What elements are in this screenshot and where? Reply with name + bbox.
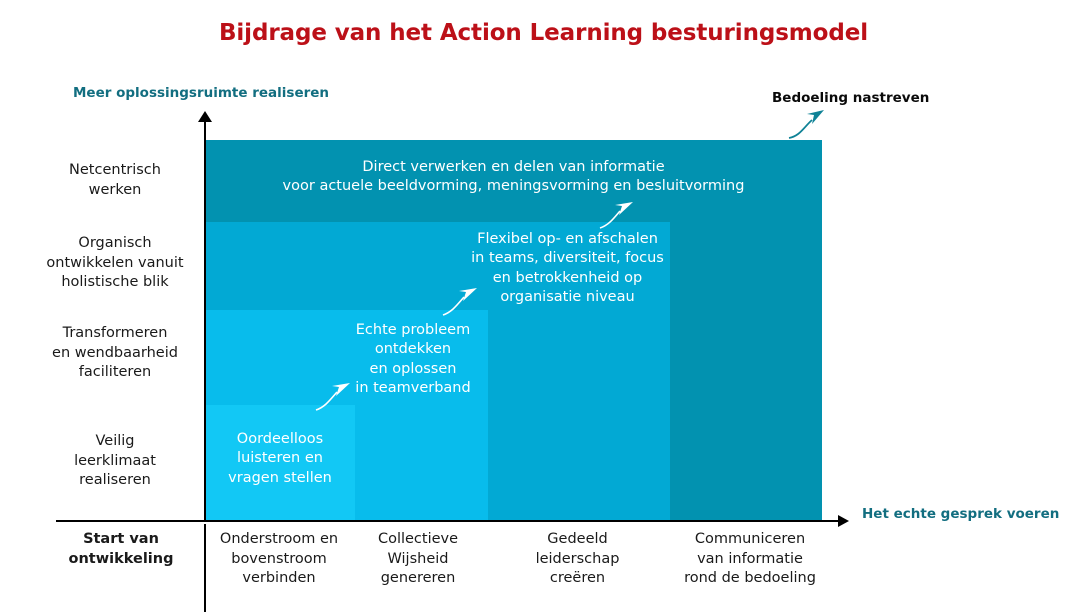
bar-block-2-label: Echte probleem ontdekken en oplossen in … bbox=[338, 321, 488, 399]
x-axis-line bbox=[56, 520, 843, 522]
bar-block-4-label: Direct verwerken en delen van informatie… bbox=[205, 158, 822, 197]
x-tick-label-collectieve: Collectieve Wijsheid genereren bbox=[348, 530, 488, 589]
y-axis-arrowhead-icon bbox=[198, 111, 212, 122]
page-title: Bijdrage van het Action Learning besturi… bbox=[0, 20, 1087, 46]
top-right-callout-label: Bedoeling nastreven bbox=[772, 90, 929, 106]
x-tick-label-communiceren: Communiceren van informatie rond de bedo… bbox=[665, 530, 835, 589]
y-tick-label-netcentrisch: Netcentrisch werken bbox=[30, 161, 200, 200]
x-tick-label-onderstroom: Onderstroom en bovenstroom verbinden bbox=[198, 530, 360, 589]
bar-block-1: Oordeelloos luisteren en vragen stellen bbox=[205, 405, 355, 520]
bar-block-1-label: Oordeelloos luisteren en vragen stellen bbox=[205, 430, 355, 488]
diagram-canvas: Bijdrage van het Action Learning besturi… bbox=[0, 0, 1087, 616]
x-axis-arrowhead-icon bbox=[838, 515, 849, 527]
x-tick-label-start: Start van ontwikkeling bbox=[36, 530, 206, 569]
x-tick-label-gedeeld: Gedeeld leiderschap creëren bbox=[500, 530, 655, 589]
y-axis-line bbox=[204, 120, 206, 522]
y-tick-label-transformeren: Transformeren en wendbaarheid facilitere… bbox=[30, 324, 200, 383]
y-tick-label-veilig: Veilig leerklimaat realiseren bbox=[30, 432, 200, 491]
y-tick-label-organisch: Organisch ontwikkelen vanuit holistische… bbox=[30, 234, 200, 293]
bar-block-3-label: Flexibel op- en afschalen in teams, dive… bbox=[465, 230, 670, 308]
x-axis-label: Het echte gesprek voeren bbox=[862, 506, 1059, 522]
y-axis-label: Meer oplossingsruimte realiseren bbox=[73, 85, 329, 101]
bedoeling-arrow-icon bbox=[789, 110, 824, 138]
